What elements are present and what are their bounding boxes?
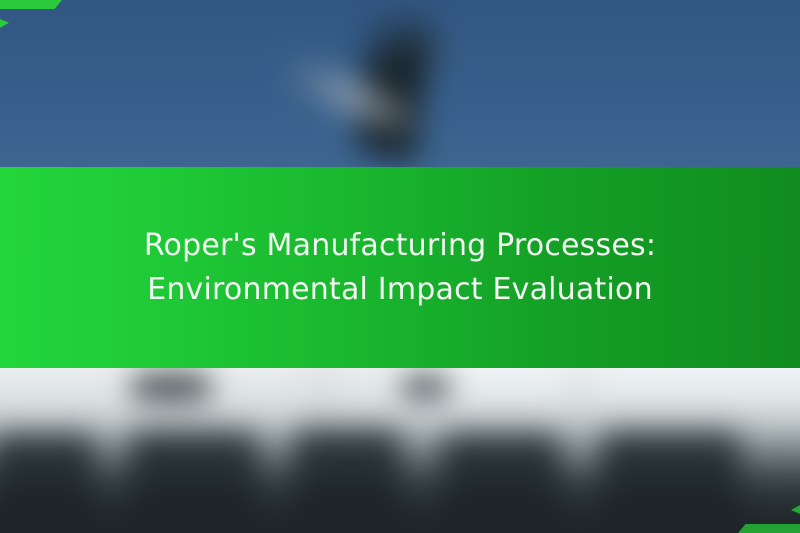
foreground-shadow: [0, 464, 800, 533]
page-title-line-1: Roper's Manufacturing Processes:: [144, 224, 656, 268]
building-window-left: [133, 374, 209, 399]
corner-accent-bottom-right: [738, 524, 800, 533]
page-title-line-2: Environmental Impact Evaluation: [147, 268, 653, 312]
title-banner: Roper's Manufacturing Processes: Environ…: [0, 167, 800, 368]
building-window-right: [402, 376, 449, 397]
corner-accent-top-left: [0, 0, 62, 9]
title-slide: Roper's Manufacturing Processes: Environ…: [0, 0, 800, 533]
